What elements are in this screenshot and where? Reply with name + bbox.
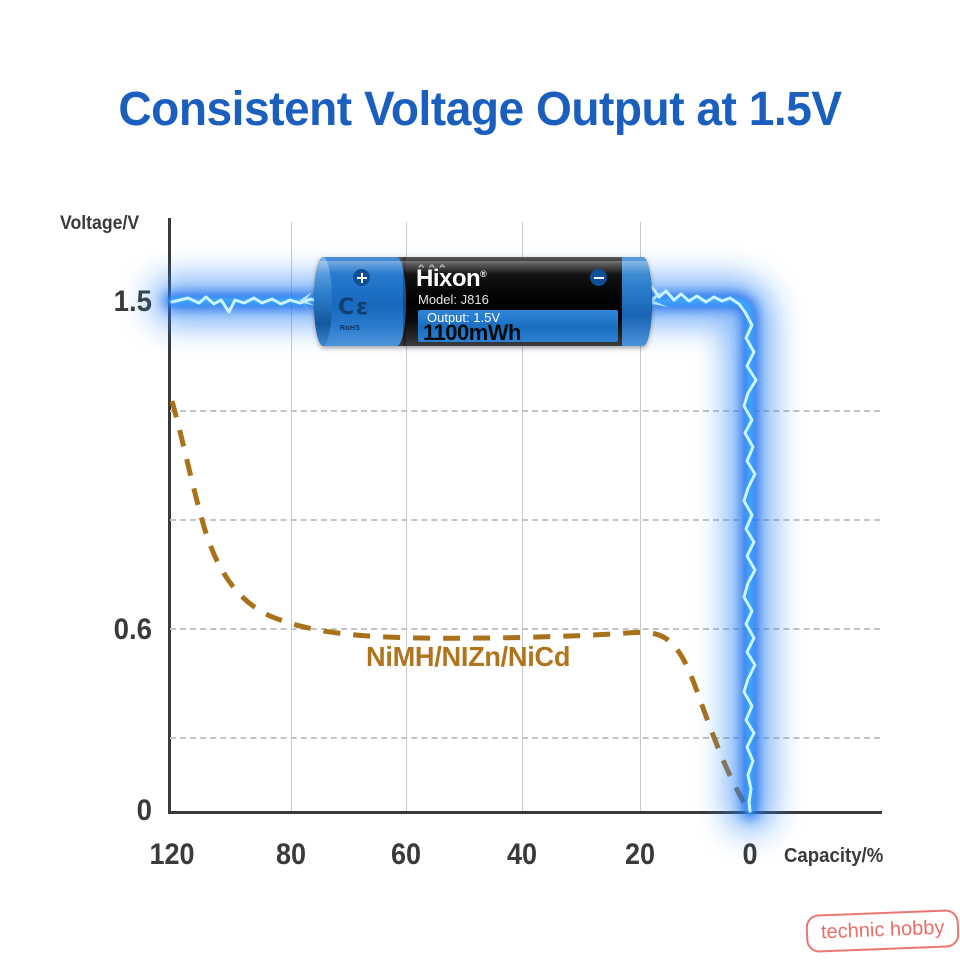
series-lithium-beam [172,301,750,811]
battery-brand: Hixon® [416,265,486,293]
series-lithium-glow-mid [172,301,750,811]
brand-text: Hixon [416,265,480,292]
positive-terminal-icon [353,269,370,286]
chart-series-layer [0,0,960,960]
battery-image: Cε RoHS AAA Hixon® Model: J816 Output: 1… [314,257,652,346]
negative-terminal-icon [590,269,607,286]
registered-mark: ® [480,269,486,279]
chart-canvas: Consistent Voltage Output at 1.5V Voltag… [0,0,960,960]
watermark-badge: technic hobby [805,909,960,953]
series-lithium-glow-outer [172,301,750,811]
battery-spec-box: Output: 1.5V 1100mWh [418,310,618,342]
battery-positive-cap [314,257,332,346]
series-label-nimh: NiMH/NIZn/NiCd [366,641,570,673]
rohs-label: RoHS [340,325,360,332]
series-nimh-curve [172,401,750,811]
battery-model: Model: J816 [418,292,489,307]
battery-negative-cap [622,257,652,346]
ce-mark-icon: Cε [338,295,370,320]
battery-capacity: 1100mWh [423,320,521,346]
battery-body: Cε RoHS AAA Hixon® Model: J816 Output: 1… [314,257,652,346]
